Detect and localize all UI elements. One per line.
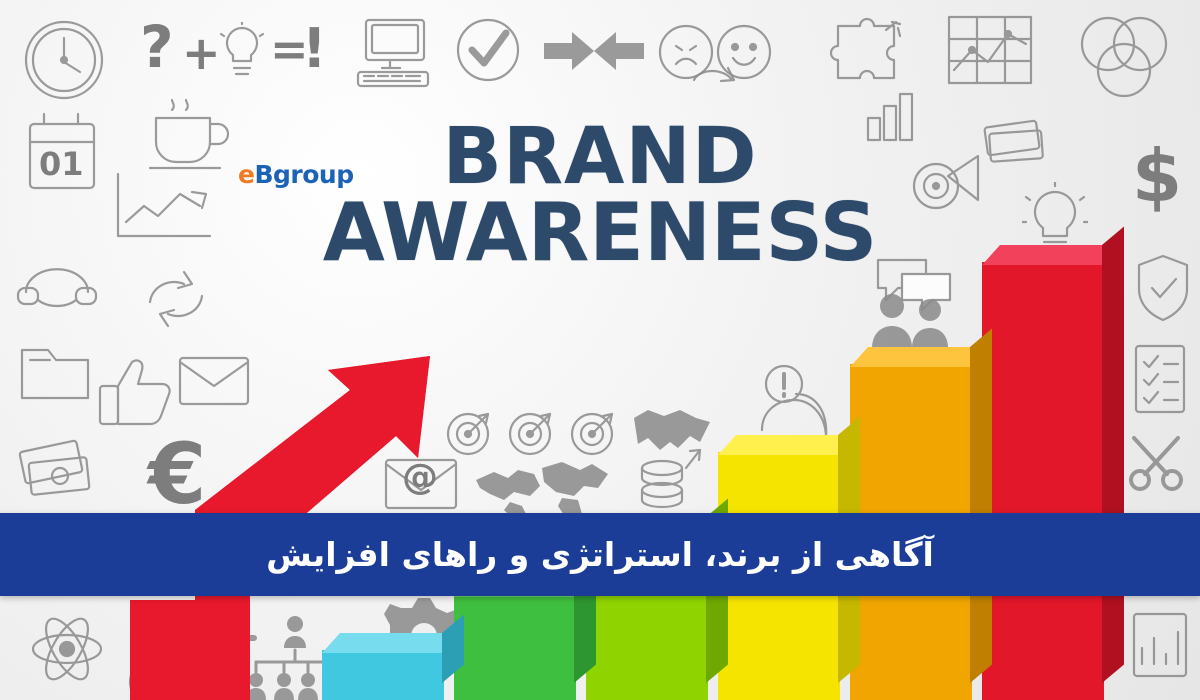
analytics-icon: [1128, 608, 1192, 682]
dartboard-icon: [502, 404, 558, 460]
users-group-icon: [870, 290, 960, 352]
question-mark-icon: ?: [140, 18, 174, 76]
checkmark-icon: [452, 14, 524, 86]
caption-band: آگاهی از برند، استراتژی و راهای افزایش: [0, 513, 1200, 596]
world-map-icon: [470, 458, 614, 520]
lightbulb-icon: [218, 22, 266, 84]
page-title: BRAND AWARENESS: [300, 120, 900, 272]
line-chart-icon: [944, 12, 1036, 90]
logo-part-e: e: [238, 160, 254, 189]
desktop-computer-icon: [352, 14, 436, 98]
calendar-day-label: 01: [39, 148, 84, 180]
scissors-icon: [1128, 432, 1190, 494]
folder-icon: [16, 334, 94, 404]
growth-chart-icon: [108, 170, 216, 246]
arrow-right-icon: [544, 30, 594, 72]
shield-icon: [1134, 252, 1192, 324]
chart-bar-6: [982, 262, 1104, 700]
dollar-sign-icon: $: [1132, 140, 1182, 212]
venn-diagram-icon: [1068, 14, 1180, 100]
atom-icon: [28, 610, 106, 688]
plus-icon: +: [182, 30, 221, 76]
arrow-left-icon: [594, 30, 644, 72]
caption-text: آگاهی از برند، استراتژی و راهای افزایش: [266, 535, 934, 574]
coffee-cup-icon: [146, 98, 234, 172]
headline-line-2: AWARENESS: [300, 195, 900, 272]
refresh-arrows-icon: [690, 62, 736, 90]
document-checklist-icon: [1128, 340, 1192, 420]
poster-image: ? + = !: [0, 0, 1200, 700]
idea-head-icon: [756, 364, 832, 442]
clock-icon: [14, 10, 114, 110]
refresh-cycle-icon: [140, 268, 212, 330]
banknotes-icon: [16, 428, 100, 502]
chart-bar-2: [454, 594, 576, 700]
money-stack-icon: [980, 110, 1050, 170]
dartboard-icon: [564, 404, 620, 460]
logo-part-b: B: [254, 160, 273, 189]
puzzle-piece-icon: [828, 12, 916, 92]
coin-stack-icon: [626, 444, 706, 514]
target-megaphone-icon: [908, 146, 988, 220]
exclamation-icon: !: [302, 22, 327, 76]
telephone-icon: [14, 252, 100, 314]
